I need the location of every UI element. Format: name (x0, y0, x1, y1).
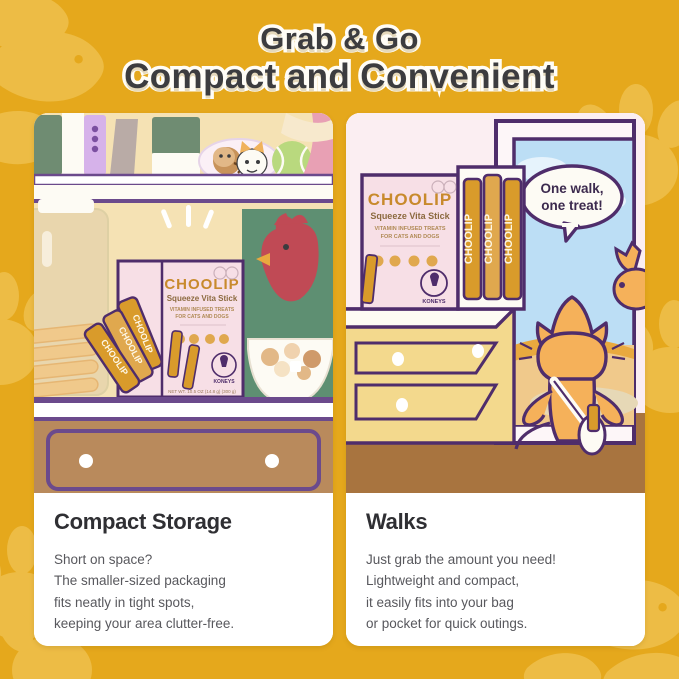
svg-text:VITAMIN INFUSED TREATS: VITAMIN INFUSED TREATS (375, 226, 446, 232)
svg-text:Squeeze Vita Stick: Squeeze Vita Stick (167, 294, 238, 303)
svg-text:Squeeze Vita Stick: Squeeze Vita Stick (370, 211, 450, 221)
card-title: Compact Storage (54, 509, 313, 535)
second-cat (614, 243, 645, 309)
body-line: The smaller-sized packaging (54, 570, 313, 591)
card-compact-storage[interactable]: CHOOLIP Squeeze Vita Stick VITAMIN INFUS… (34, 113, 333, 646)
illustration-doorway-walk: One walk, one treat! (346, 113, 645, 493)
svg-text:KONEYS: KONEYS (213, 379, 235, 385)
svg-text:VITAMIN INFUSED TREATS: VITAMIN INFUSED TREATS (170, 307, 235, 313)
drawer-knob (265, 454, 279, 468)
svg-text:one treat!: one treat! (541, 198, 603, 213)
body-line: fits neatly in tight spots, (54, 592, 313, 613)
illustration-pantry-shelf: CHOOLIP Squeeze Vita Stick VITAMIN INFUS… (34, 113, 333, 493)
feature-cards: CHOOLIP Squeeze Vita Stick VITAMIN INFUS… (34, 113, 645, 646)
card-body: Just grab the amount you need! Lightweig… (366, 549, 625, 634)
svg-text:FOR CATS AND DOGS: FOR CATS AND DOGS (381, 234, 440, 240)
fish-decoration (603, 653, 679, 679)
cabinet-knob (392, 352, 404, 366)
svg-text:CHOOLIP: CHOOLIP (164, 276, 239, 293)
title-line-2: Compact and Convenient (0, 57, 679, 96)
svg-text:CHOOLIP: CHOOLIP (463, 214, 475, 264)
body-line: it easily fits into your bag (366, 592, 625, 613)
body-line: Just grab the amount you need! (366, 549, 625, 570)
svg-text:FOR CATS AND DOGS: FOR CATS AND DOGS (175, 314, 229, 320)
product-box-choolip: CHOOLIP Squeeze Vita Stick VITAMIN INFUS… (362, 167, 524, 309)
card-body: Short on space? The smaller-sized packag… (54, 549, 313, 634)
body-line: Lightweight and compact, (366, 570, 625, 591)
fish-decoration (524, 653, 601, 679)
svg-text:NET WT. 10.5 OZ (14.8 g) (300: NET WT. 10.5 OZ (14.8 g) (300 g) (168, 389, 236, 394)
card-caption: Walks Just grab the amount you need! Lig… (346, 493, 645, 646)
drawer-knob (79, 454, 93, 468)
card-caption: Compact Storage Short on space? The smal… (34, 493, 333, 646)
body-line: Short on space? (54, 549, 313, 570)
body-line: keeping your area clutter-free. (54, 613, 313, 634)
card-walks[interactable]: One walk, one treat! (346, 113, 645, 646)
page-title: Grab & Go Compact and Convenient (0, 22, 679, 96)
svg-text:CHOOLIP: CHOOLIP (503, 214, 515, 264)
cabinet-knob (472, 344, 484, 358)
body-line: or pocket for quick outings. (366, 613, 625, 634)
cabinet-knob (396, 398, 408, 412)
svg-text:CHOOLIP: CHOOLIP (483, 214, 495, 264)
title-line-1: Grab & Go (0, 22, 679, 57)
svg-text:KONEYS: KONEYS (422, 299, 446, 305)
svg-text:One walk,: One walk, (540, 181, 603, 196)
card-title: Walks (366, 509, 625, 535)
